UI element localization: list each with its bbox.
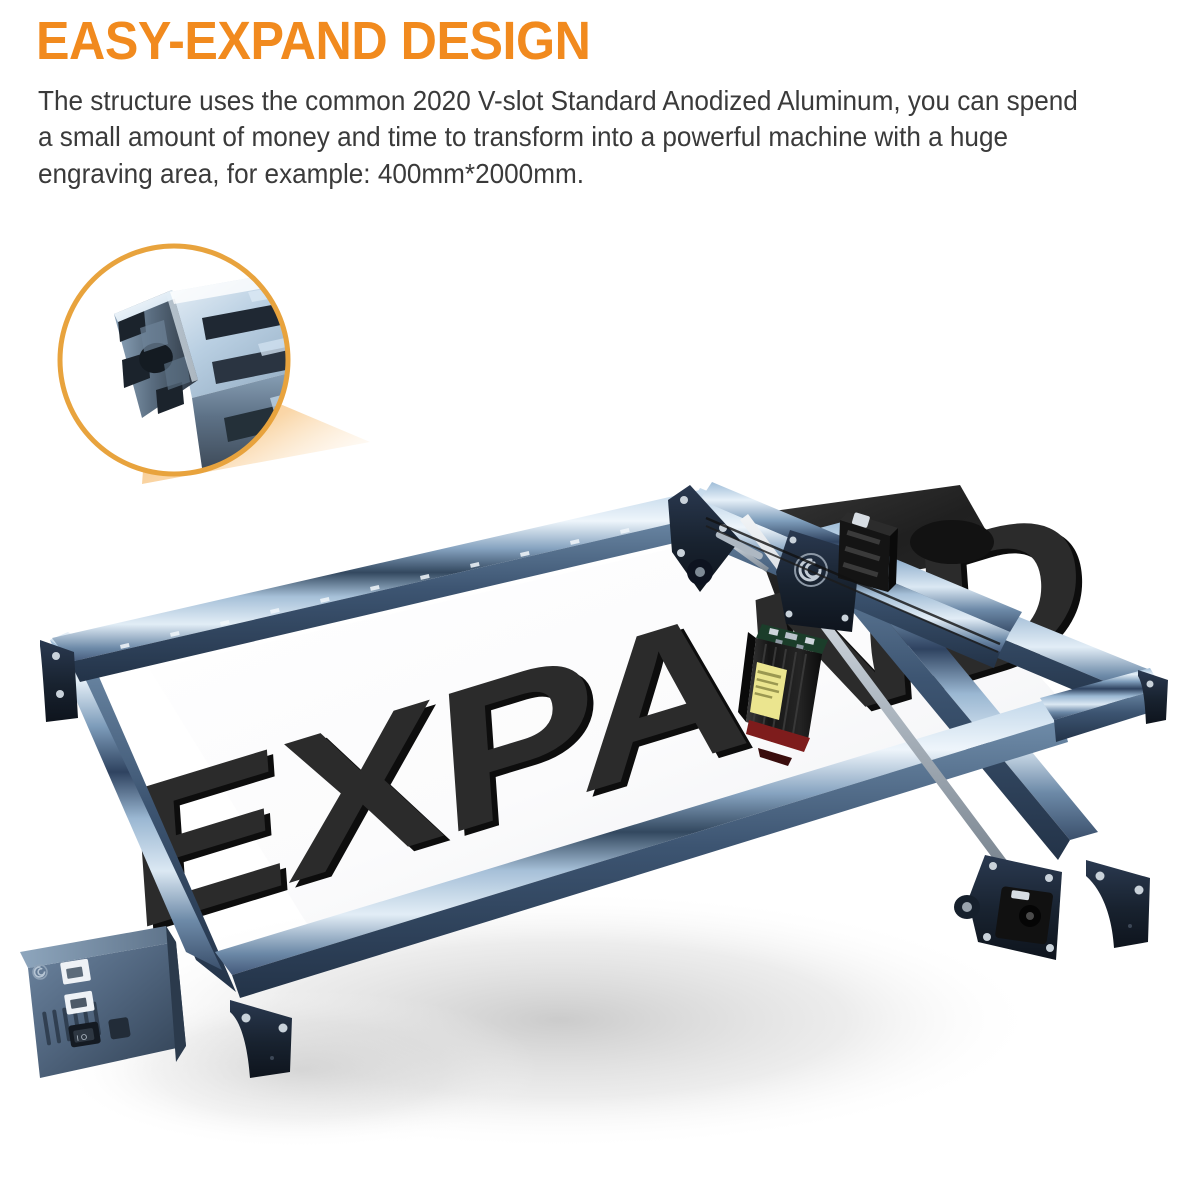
vslot-magnifier-inset <box>52 232 370 532</box>
black-disc-plate <box>910 520 994 564</box>
screw <box>52 652 60 660</box>
page-body-paragraph: The structure uses the common 2020 V-slo… <box>38 83 1093 192</box>
screw <box>677 549 685 557</box>
power-switch[interactable]: I O <box>68 1021 101 1047</box>
usb-port-icon[interactable] <box>60 959 91 985</box>
page-headline: EASY-EXPAND DESIGN <box>36 13 590 70</box>
screw <box>1046 944 1054 952</box>
screw <box>983 933 991 941</box>
carriage-right-y <box>954 855 1062 960</box>
svg-text:I O: I O <box>76 1032 88 1043</box>
foot-bracket-bottom-right <box>1086 860 1150 948</box>
screw <box>786 611 793 618</box>
vslot-extrusion-profile <box>52 232 370 532</box>
screw <box>1147 681 1154 688</box>
screw <box>680 496 688 504</box>
screw <box>842 615 849 622</box>
screw <box>1135 886 1144 895</box>
screw <box>1096 872 1105 881</box>
foot-bracket-left <box>40 640 78 722</box>
screw <box>242 1014 251 1023</box>
screw <box>1045 874 1053 882</box>
screw <box>790 537 797 544</box>
screw <box>56 690 64 698</box>
screw <box>279 1024 288 1033</box>
screw <box>989 862 997 870</box>
